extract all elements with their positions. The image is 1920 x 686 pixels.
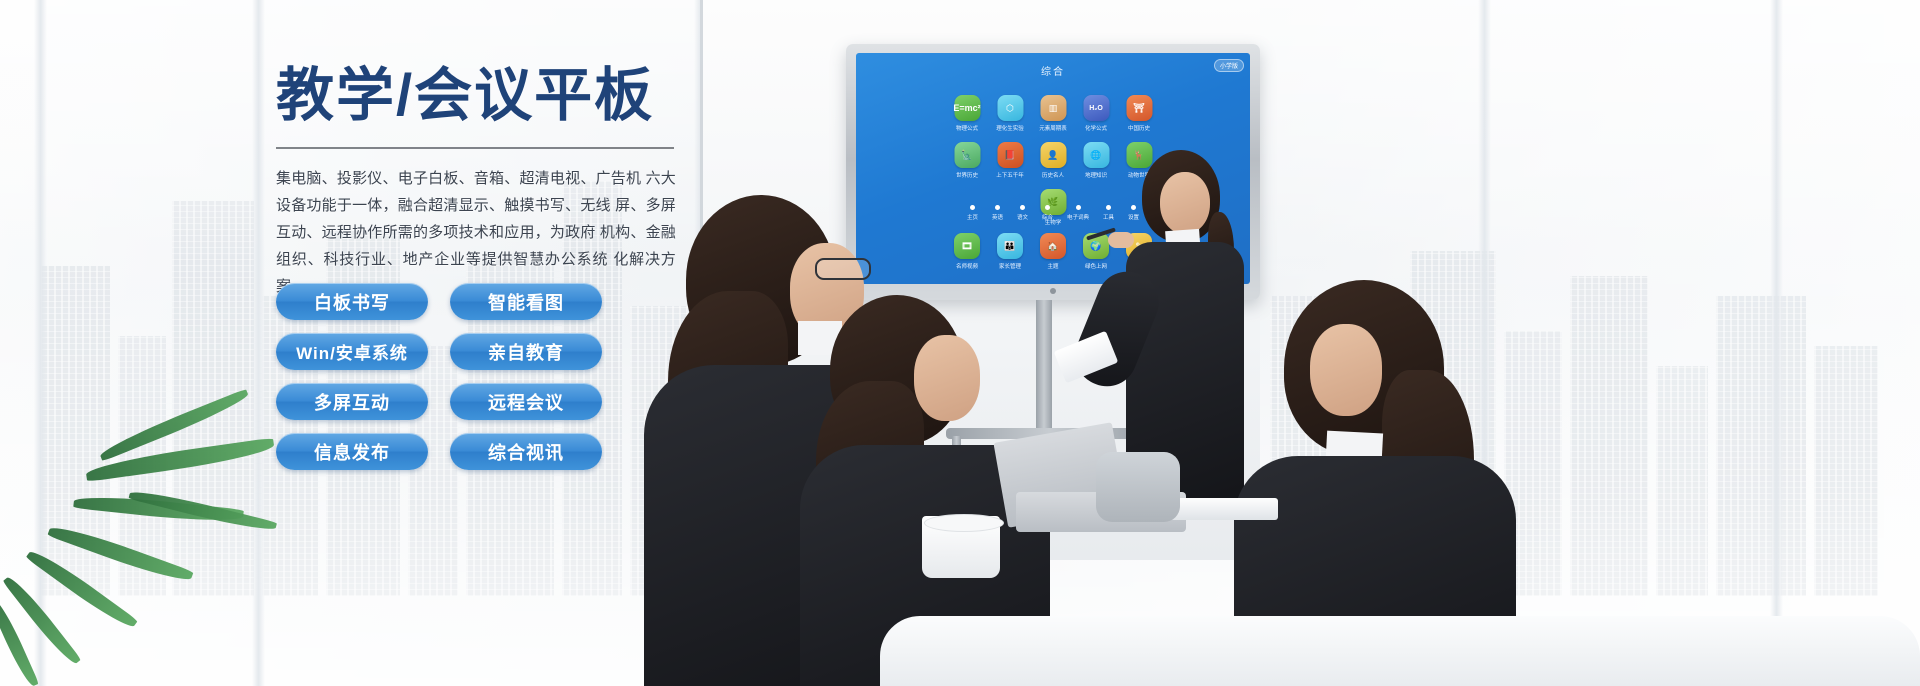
parent-control-icon: 👪 xyxy=(997,233,1023,259)
button-row: Win/安卓系统 亲自教育 xyxy=(276,333,606,370)
tab-dot-icon xyxy=(1045,205,1050,210)
nav-tab-label: 综合 xyxy=(1042,213,1053,221)
tab-dot-icon xyxy=(1020,205,1025,210)
historic-figures-icon: 👤 xyxy=(1040,142,1066,168)
nav-tab: 电子词典 xyxy=(1067,205,1089,221)
nav-tab: 英语 xyxy=(992,205,1003,221)
geography-icon: 🌐 xyxy=(1083,142,1109,168)
app-label: 绿色上网 xyxy=(1085,262,1107,270)
product-description: 集电脑、投影仪、电子白板、音箱、超清电视、广告机 六大设备功能于一体，融合超清显… xyxy=(276,165,676,300)
conference-table xyxy=(880,616,1920,686)
app-label: 中国历史 xyxy=(1128,124,1150,132)
chemical-formula-icon: H₂O xyxy=(1083,95,1109,121)
app-label: 物理公式 xyxy=(956,124,978,132)
app-icon-item[interactable]: 🏠 主题 xyxy=(1037,233,1069,270)
feature-button-grid: 白板书写 智能看图 Win/安卓系统 亲自教育 多屏互动 远程会议 信息发布 综… xyxy=(276,283,606,483)
feature-button-win-android-system[interactable]: Win/安卓系统 xyxy=(276,333,428,370)
window-mullion xyxy=(1770,0,1783,686)
chemistry-lab-icon: ⬡ xyxy=(997,95,1023,121)
button-row: 多屏互动 远程会议 xyxy=(276,383,606,420)
tab-dot-icon xyxy=(995,205,1000,210)
nav-tab: 工具 xyxy=(1103,205,1114,221)
feature-button-parent-child-education[interactable]: 亲自教育 xyxy=(450,333,602,370)
title-divider xyxy=(276,147,674,149)
nav-tab-label: 电子词典 xyxy=(1067,213,1089,221)
app-icon-item[interactable]: 👤 历史名人 xyxy=(1037,142,1069,179)
app-icon-item[interactable]: 🗽 世界历史 xyxy=(951,142,983,179)
app-label: 家长管理 xyxy=(999,262,1021,270)
app-label: 主题 xyxy=(1047,262,1058,270)
app-icon-item[interactable]: ⛩ 中国历史 xyxy=(1123,95,1155,132)
presenter-hand xyxy=(1108,232,1134,248)
app-label: 元素周期表 xyxy=(1039,124,1067,132)
app-icon-item[interactable]: 🌐 地理知识 xyxy=(1080,142,1112,179)
tab-dot-icon xyxy=(1076,205,1081,210)
feature-button-remote-meeting[interactable]: 远程会议 xyxy=(450,383,602,420)
power-indicator-icon xyxy=(1050,288,1056,294)
app-icon-item[interactable]: ⬡ 理化生实验 xyxy=(994,95,1026,132)
periodic-table-icon: ▥ xyxy=(1040,95,1066,121)
feature-button-multi-screen-interaction[interactable]: 多屏互动 xyxy=(276,383,428,420)
copy-block: 教学/会议平板 集电脑、投影仪、电子白板、音箱、超清电视、广告机 六大设备功能于… xyxy=(276,64,696,300)
nav-tab-label: 主页 xyxy=(967,213,978,221)
chinese-history-icon: ⛩ xyxy=(1126,95,1152,121)
teacher-video-icon: 🎞 xyxy=(954,233,980,259)
app-label: 名师视频 xyxy=(956,262,978,270)
button-row: 信息发布 综合视讯 xyxy=(276,433,606,470)
nav-tab: 主页 xyxy=(967,205,978,221)
app-icon-item[interactable]: ▥ 元素周期表 xyxy=(1037,95,1069,132)
app-label: 化学公式 xyxy=(1085,124,1107,132)
nav-tab-label: 英语 xyxy=(992,213,1003,221)
edition-badge: 小学版 xyxy=(1214,59,1244,72)
feature-button-smart-image-view[interactable]: 智能看图 xyxy=(450,283,602,320)
nav-tab-label: 语文 xyxy=(1017,213,1028,221)
feature-button-information-release[interactable]: 信息发布 xyxy=(276,433,428,470)
button-row: 白板书写 智能看图 xyxy=(276,283,606,320)
page-title: 教学/会议平板 xyxy=(276,64,696,129)
world-history-icon: 🗽 xyxy=(954,142,980,168)
nav-tab: 语文 xyxy=(1017,205,1028,221)
app-label: 历史名人 xyxy=(1042,171,1064,179)
app-label: 地理知识 xyxy=(1085,171,1107,179)
screen-title: 综合 xyxy=(856,63,1250,78)
nav-tab-label: 工具 xyxy=(1103,213,1114,221)
cup-rim xyxy=(924,514,1004,532)
nav-tab: 综合 xyxy=(1042,205,1053,221)
feature-button-integrated-video[interactable]: 综合视讯 xyxy=(450,433,602,470)
product-banner: 教学/会议平板 集电脑、投影仪、电子白板、音箱、超清电视、广告机 六大设备功能于… xyxy=(0,0,1920,686)
app-icon-item[interactable]: 📕 上下五千年 xyxy=(994,142,1026,179)
chair-back xyxy=(1096,452,1180,522)
physics-formula-icon: E=mc² xyxy=(954,95,980,121)
tab-dot-icon xyxy=(1106,205,1111,210)
app-icon-item[interactable]: 👪 家长管理 xyxy=(994,233,1026,270)
app-icon-item[interactable]: 🎞 名师视频 xyxy=(951,233,983,270)
app-label: 上下五千年 xyxy=(996,171,1024,179)
feature-button-whiteboard-writing[interactable]: 白板书写 xyxy=(276,283,428,320)
app-icon-item[interactable]: H₂O 化学公式 xyxy=(1080,95,1112,132)
theme-home-icon: 🏠 xyxy=(1040,233,1066,259)
app-icon-item[interactable]: E=mc² 物理公式 xyxy=(951,95,983,132)
app-label: 理化生实验 xyxy=(996,124,1024,132)
foreground-plant xyxy=(0,440,290,686)
tab-dot-icon xyxy=(970,205,975,210)
eyeglasses-icon xyxy=(815,258,871,280)
app-label: 世界历史 xyxy=(956,171,978,179)
five-thousand-years-icon: 📕 xyxy=(997,142,1023,168)
